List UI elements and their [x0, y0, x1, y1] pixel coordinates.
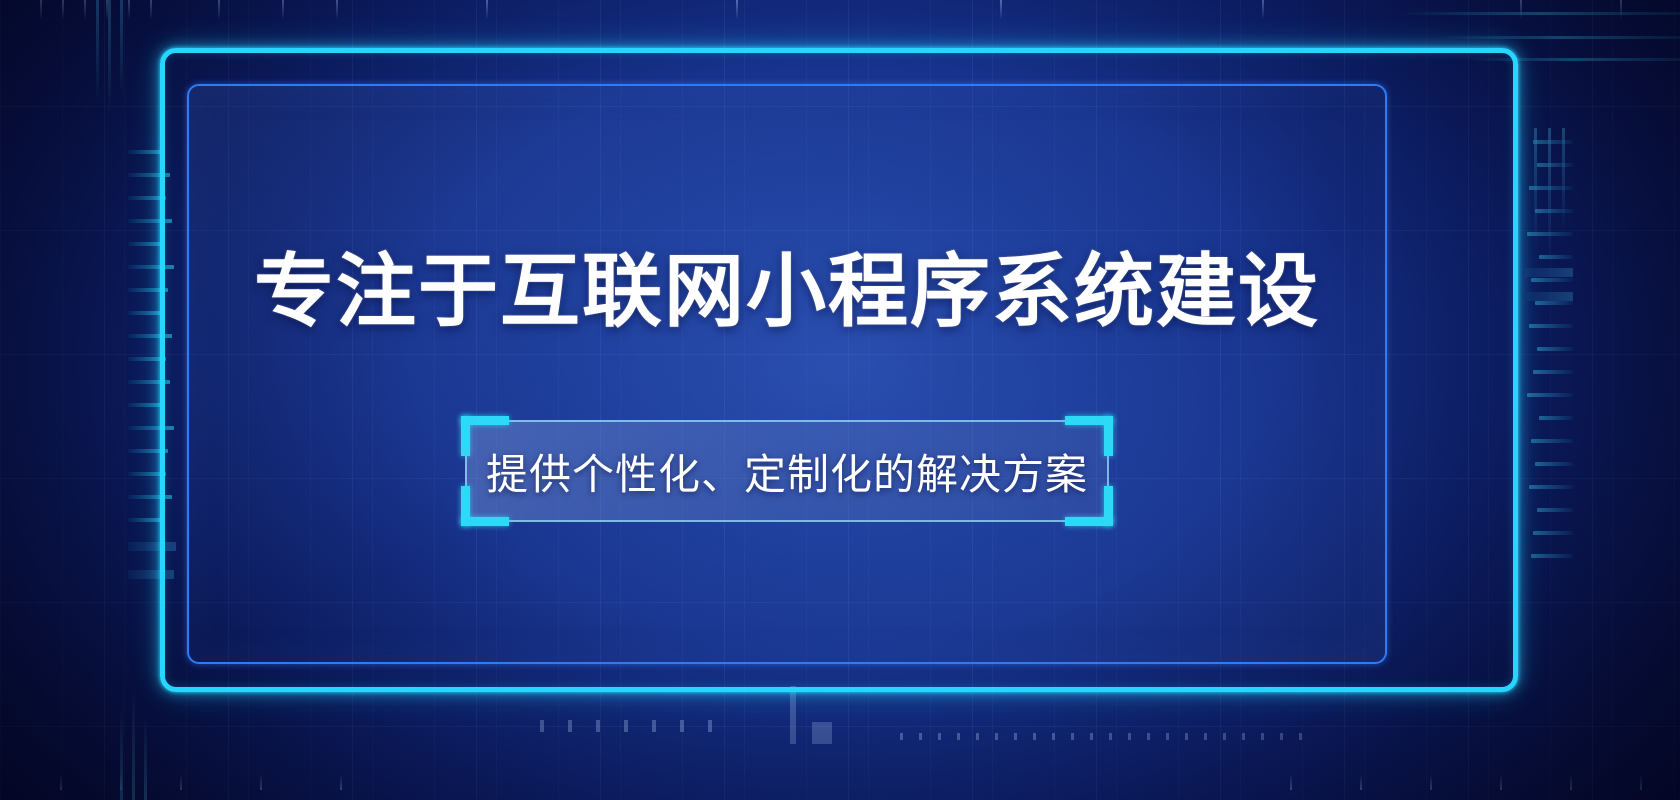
whisker-bars-top-right [1524, 128, 1584, 268]
page-subtitle: 提供个性化、定制化的解决方案 [465, 420, 1109, 522]
top-tick-marks [0, 0, 1680, 26]
right-ladder-bars [1525, 140, 1573, 640]
streak-line-2 [1440, 36, 1680, 39]
whisker-bars-bottom-left [120, 680, 170, 800]
banner-content: 专注于互联网小程序系统建设 提供个性化、定制化的解决方案 [187, 84, 1387, 664]
page-title: 专注于互联网小程序系统建设 [254, 252, 1320, 332]
whisker-bars-top-left [96, 0, 156, 120]
bottom-tick-marks [0, 774, 1680, 800]
bottom-dot-row-2 [900, 734, 1320, 740]
subtitle-plate: 提供个性化、定制化的解决方案 [465, 420, 1109, 522]
banner-stage: 专注于互联网小程序系统建设 提供个性化、定制化的解决方案 [0, 0, 1680, 800]
left-ladder-bars [128, 150, 176, 550]
bottom-bar-decor [790, 682, 910, 744]
streak-line-1 [1400, 12, 1680, 15]
streak-line-3 [1468, 58, 1680, 61]
bottom-dot-row [540, 726, 800, 732]
